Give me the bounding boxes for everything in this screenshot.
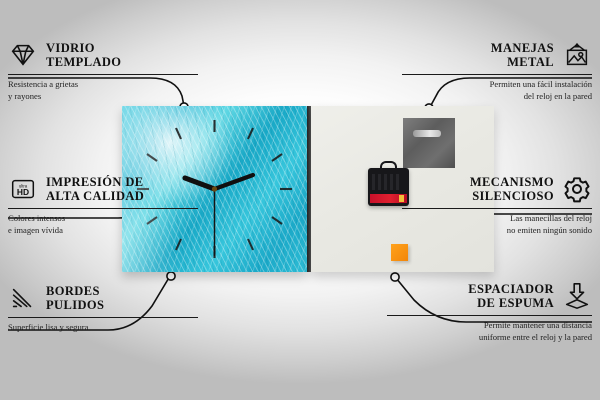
diamond-icon — [8, 40, 38, 70]
feature-title: MECANISMOSILENCIOSO — [470, 175, 554, 204]
hanging-frame-icon — [562, 40, 592, 70]
arrow-down-stack-icon — [562, 281, 592, 311]
metal-hanger-plate — [403, 118, 455, 168]
divider — [8, 317, 198, 318]
polished-edges-icon — [8, 283, 38, 313]
feature-impresion-alta-calidad: ultra HD IMPRESIÓN DEALTA CALIDAD Colore… — [8, 174, 198, 236]
svg-text:HD: HD — [17, 187, 29, 197]
feature-description: Colores intensose imagen vívida — [8, 213, 198, 236]
infographic-canvas: VIDRIOTEMPLADO Resistencia a grietasy ra… — [0, 0, 600, 400]
feature-manejas-metal: MANEJASMETAL Permiten una fácil instalac… — [402, 40, 592, 102]
divider — [402, 208, 592, 209]
feature-header: BORDESPULIDOS — [8, 283, 198, 313]
feature-bordes-pulidos: BORDESPULIDOS Superficie lisa y segura — [8, 283, 198, 334]
divider — [387, 315, 592, 316]
feature-description: Resistencia a grietasy rayones — [8, 79, 198, 102]
gear-icon — [562, 174, 592, 204]
feature-espaciador-espuma: ESPACIADORDE ESPUMA Permite mantener una… — [387, 281, 592, 343]
feature-header: MECANISMOSILENCIOSO — [402, 174, 592, 204]
feature-header: MANEJASMETAL — [402, 40, 592, 70]
feature-description: Permiten una fácil instalacióndel reloj … — [402, 79, 592, 102]
feature-description: Permite mantener una distanciauniforme e… — [387, 320, 592, 343]
feature-title: VIDRIOTEMPLADO — [46, 41, 121, 70]
foam-spacer — [391, 244, 408, 261]
divider — [8, 208, 198, 209]
feature-header: ESPACIADORDE ESPUMA — [387, 281, 592, 311]
feature-description: Superficie lisa y segura — [8, 322, 198, 334]
divider — [8, 74, 198, 75]
feature-vidrio-templado: VIDRIOTEMPLADO Resistencia a grietasy ra… — [8, 40, 198, 102]
feature-mecanismo-silencioso: MECANISMOSILENCIOSO Las manecillas del r… — [402, 174, 592, 236]
feature-title: MANEJASMETAL — [491, 41, 554, 70]
feature-description: Las manecillas del relojno emiten ningún… — [402, 213, 592, 236]
ultra-hd-icon: ultra HD — [8, 174, 38, 204]
feature-title: IMPRESIÓN DEALTA CALIDAD — [46, 175, 144, 204]
feature-title: BORDESPULIDOS — [46, 284, 104, 313]
feature-title: ESPACIADORDE ESPUMA — [468, 282, 554, 311]
divider — [402, 74, 592, 75]
feature-header: ultra HD IMPRESIÓN DEALTA CALIDAD — [8, 174, 198, 204]
feature-header: VIDRIOTEMPLADO — [8, 40, 198, 70]
